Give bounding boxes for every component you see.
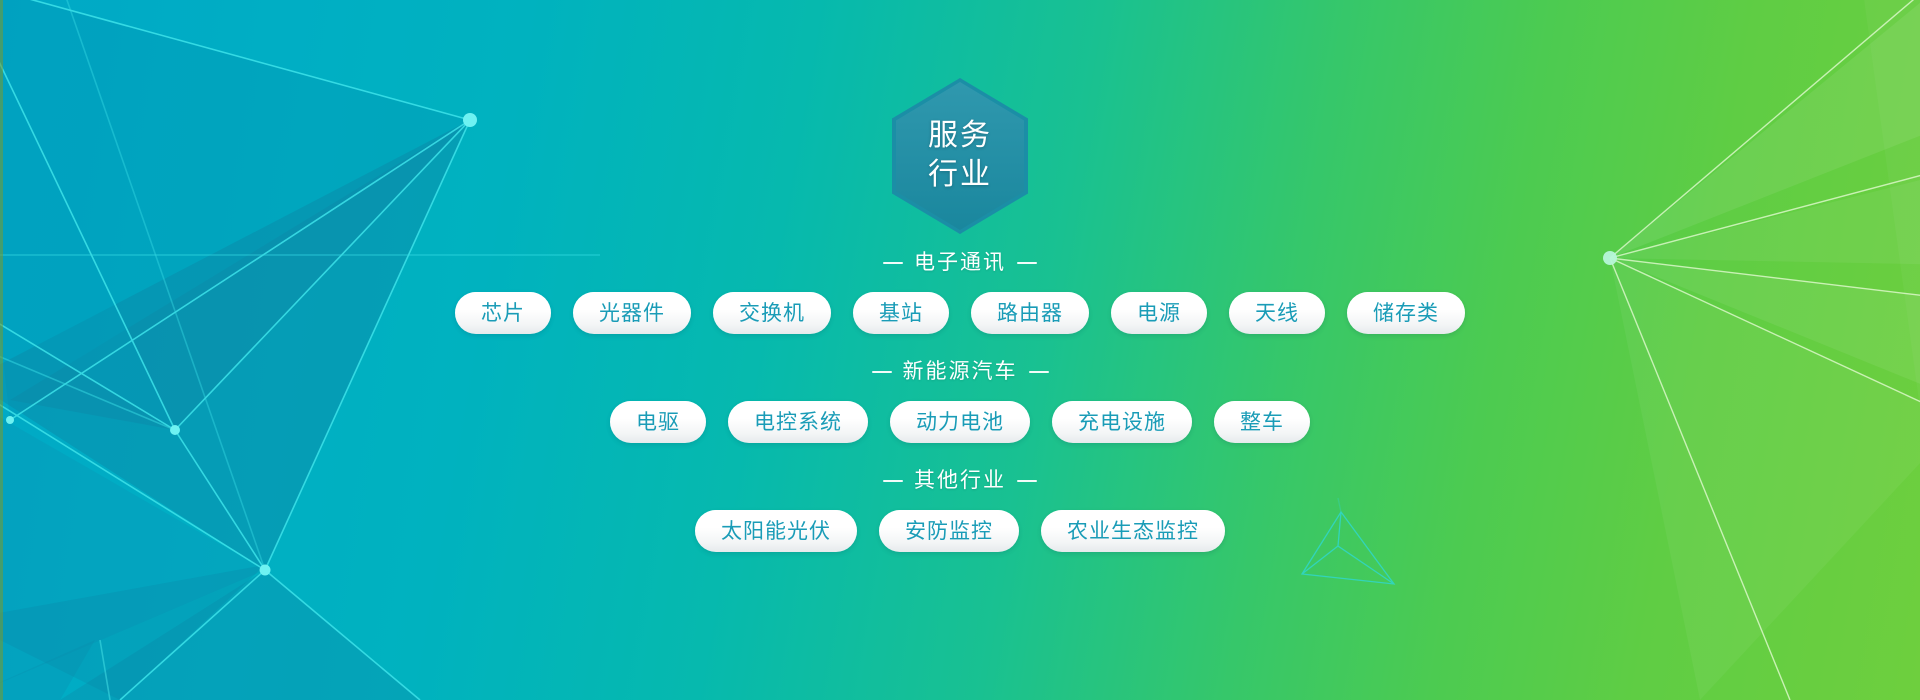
pill-tag[interactable]: 安防监控: [879, 510, 1019, 552]
group-title-text: 电子通讯: [914, 252, 1006, 273]
pill-tag[interactable]: 交换机: [713, 292, 831, 334]
pill-tag[interactable]: 光器件: [573, 292, 691, 334]
group-title-other-industries: 其他行业: [883, 470, 1037, 491]
group-title-electronics-communication: 电子通讯: [883, 252, 1037, 273]
pill-tag[interactable]: 电控系统: [728, 401, 868, 443]
pill-tag[interactable]: 电源: [1111, 292, 1207, 334]
hexagon-label: 服务 行业: [892, 78, 1028, 234]
pill-row-electronics-communication: 芯片 光器件 交换机 基站 路由器 电源 天线 储存类: [455, 292, 1465, 334]
dash-right-icon: [1017, 262, 1037, 264]
service-industry-badge: 服务 行业: [892, 78, 1028, 234]
pill-tag[interactable]: 天线: [1229, 292, 1325, 334]
group-other-industries: 其他行业 太阳能光伏 安防监控 农业生态监控: [0, 470, 1920, 552]
pill-tag[interactable]: 电驱: [610, 401, 706, 443]
pill-tag[interactable]: 基站: [853, 292, 949, 334]
group-title-text: 新能源汽车: [903, 361, 1018, 382]
bottom-sweep: [0, 640, 110, 700]
pill-tag[interactable]: 农业生态监控: [1041, 510, 1225, 552]
dash-left-icon: [872, 371, 892, 373]
pill-tag[interactable]: 动力电池: [890, 401, 1030, 443]
dash-left-icon: [883, 480, 903, 482]
group-title-text: 其他行业: [914, 470, 1006, 491]
group-new-energy-vehicle: 新能源汽车 电驱 电控系统 动力电池 充电设施 整车: [0, 361, 1920, 470]
pill-tag[interactable]: 路由器: [971, 292, 1089, 334]
pill-tag[interactable]: 充电设施: [1052, 401, 1192, 443]
pill-row-other-industries: 太阳能光伏 安防监控 农业生态监控: [695, 510, 1225, 552]
pill-row-new-energy-vehicle: 电驱 电控系统 动力电池 充电设施 整车: [610, 401, 1310, 443]
pill-tag[interactable]: 芯片: [455, 292, 551, 334]
badge-line-2: 行业: [928, 157, 992, 194]
dash-left-icon: [883, 262, 903, 264]
group-title-new-energy-vehicle: 新能源汽车: [872, 361, 1049, 382]
badge-line-1: 服务: [928, 118, 992, 155]
pill-tag[interactable]: 整车: [1214, 401, 1310, 443]
pill-tag[interactable]: 太阳能光伏: [695, 510, 857, 552]
group-electronics-communication: 电子通讯 芯片 光器件 交换机 基站 路由器 电源 天线 储存类: [0, 252, 1920, 361]
category-groups: 电子通讯 芯片 光器件 交换机 基站 路由器 电源 天线 储存类 新能源汽车 电: [0, 252, 1920, 552]
dash-right-icon: [1029, 371, 1049, 373]
dash-right-icon: [1017, 480, 1037, 482]
pill-tag[interactable]: 储存类: [1347, 292, 1465, 334]
service-industry-banner: 服务 行业 电子通讯 芯片 光器件 交换机 基站 路由器 电源 天线 储存类: [0, 0, 1920, 700]
